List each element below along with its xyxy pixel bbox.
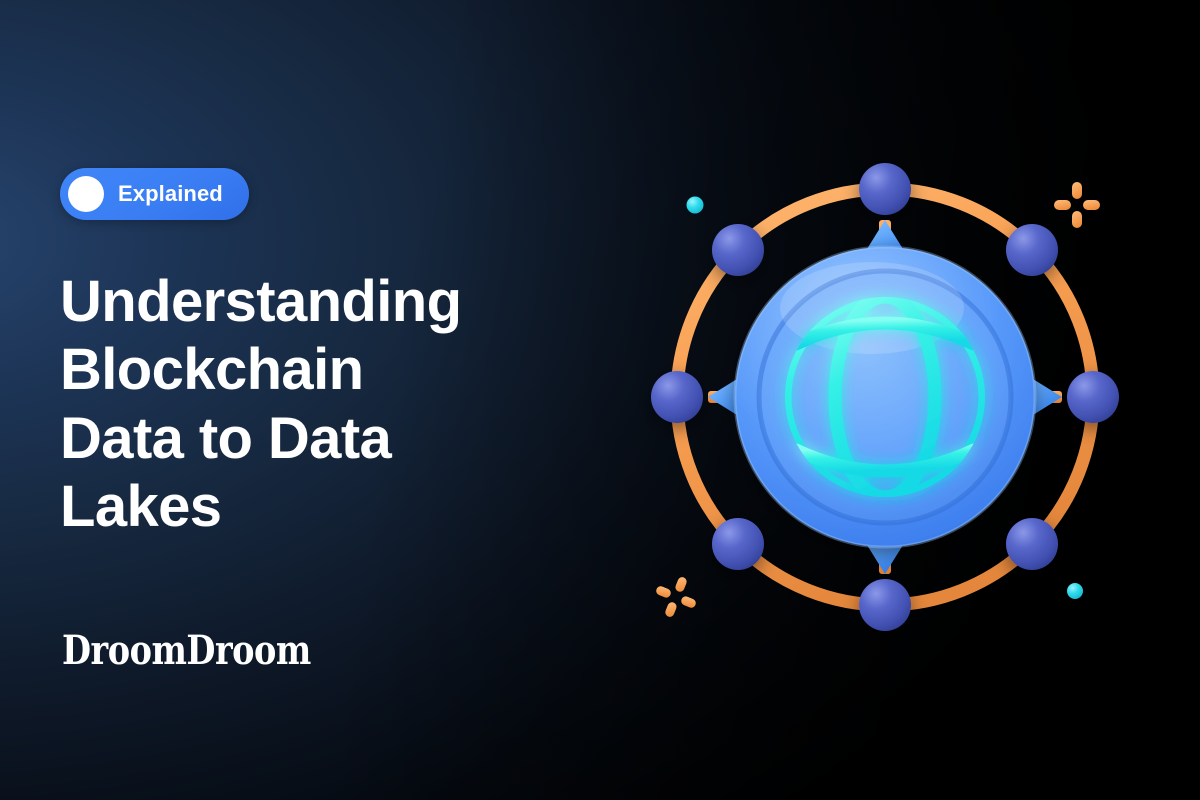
orbit-node-45 [1006,224,1058,276]
headline-line-1: Understanding [60,268,580,336]
circle-icon [68,176,104,212]
headline-line-3: Data to Data [60,405,580,473]
orbit-node-270 [859,579,911,631]
orbit-node-315 [1006,518,1058,570]
plus-sparkle-top-right [1054,182,1100,228]
orbit-node-135 [712,224,764,276]
orbit-node-90 [859,163,911,215]
category-badge[interactable]: Explained [60,168,249,220]
hero-illustration [620,132,1150,662]
brand-logo[interactable]: DroomDroom [62,631,311,671]
page-title: Understanding Blockchain Data to Data La… [60,268,580,542]
orbit-node-0 [1067,371,1119,423]
plus-sparkle-bottom-left [649,570,704,625]
orbit-node-225 [712,518,764,570]
cyan-dot-top-left [687,197,704,214]
headline-line-2: Blockchain [60,336,580,404]
category-badge-label: Explained [118,181,223,207]
content-column: Explained Understanding Blockchain Data … [60,0,620,800]
banner-canvas: Explained Understanding Blockchain Data … [0,0,1200,800]
cyan-dot-bottom-right [1067,583,1083,599]
orbit-node-180 [651,371,703,423]
headline-line-4: Lakes [60,473,580,541]
